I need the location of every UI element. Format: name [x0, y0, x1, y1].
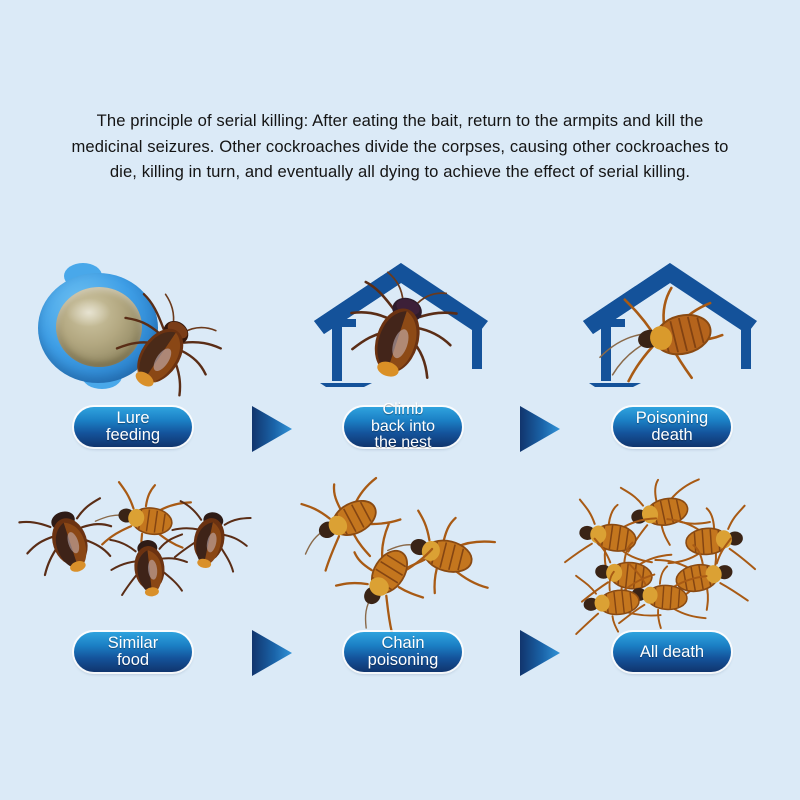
step-label-lure-feeding[interactable]: Lure feeding [74, 407, 192, 447]
cockroach-group-illustration [18, 480, 248, 625]
arrow-4 [518, 628, 562, 678]
step-label-chain-poisoning[interactable]: Chain poisoning [344, 632, 462, 672]
house-illustration [288, 255, 518, 400]
dead-cockroach-icon [595, 289, 735, 385]
cockroach-icon [110, 299, 220, 395]
step-label-poisoning-death[interactable]: Poisoning death [613, 407, 731, 447]
step-label-text: Chain poisoning [364, 635, 442, 669]
dead-cockroach-icon [332, 536, 444, 620]
cockroach-pile-illustration [557, 480, 787, 625]
step-label-text: All death [640, 644, 704, 661]
triangle-right-icon [520, 406, 560, 452]
dead-cockroach-group-illustration [288, 480, 518, 625]
step-label-text: Lure feeding [94, 410, 172, 444]
cockroach-icon [340, 277, 460, 387]
step-label-similar-food[interactable]: Similar food [74, 632, 192, 672]
infographic-stage: The principle of serial killing: After e… [0, 0, 800, 800]
step-lure-feeding: Lure feeding [18, 255, 248, 475]
process-row-top: Lure feeding [0, 255, 800, 475]
house-illustration [557, 255, 787, 400]
step-label-all-death[interactable]: All death [613, 632, 731, 672]
bait-station-illustration [18, 255, 248, 400]
process-row-bottom: Similar food [0, 480, 800, 700]
intro-paragraph: The principle of serial killing: After e… [60, 108, 740, 185]
arrow-3 [250, 628, 294, 678]
triangle-right-icon [252, 630, 292, 676]
step-label-text: Climb back into the nest [364, 402, 442, 452]
triangle-right-icon [252, 406, 292, 452]
arrow-2 [518, 404, 562, 454]
step-label-climb-back-into-the-nest[interactable]: Climb back into the nest [344, 407, 462, 447]
triangle-right-icon [520, 630, 560, 676]
step-poisoning-death: Poisoning death [557, 255, 787, 475]
dead-cockroach-icon [563, 572, 663, 632]
arrow-1 [250, 404, 294, 454]
step-all-death: All death [557, 480, 787, 700]
step-chain-poisoning: Chain poisoning [288, 480, 518, 700]
step-label-text: Poisoning death [633, 410, 711, 444]
cockroach-icon [106, 528, 192, 600]
step-similar-food: Similar food [18, 480, 248, 700]
step-label-text: Similar food [94, 635, 172, 669]
step-climb-back-into-the-nest: Climb back into the nest [288, 255, 518, 475]
